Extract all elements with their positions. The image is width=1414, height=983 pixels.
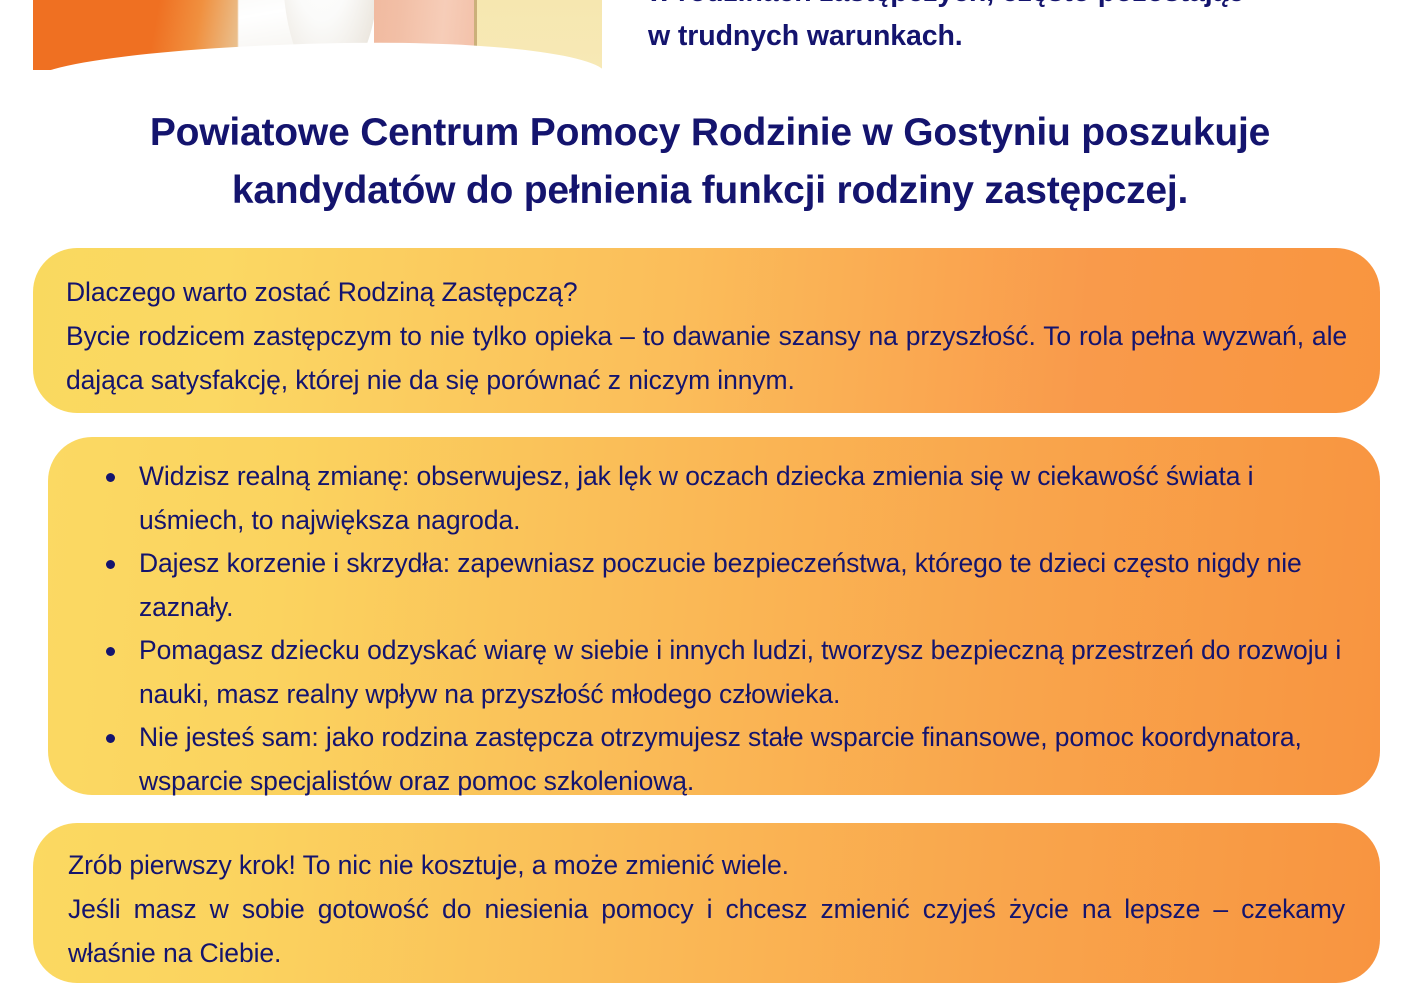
why-foster-paragraph: Bycie rodzicem zastępczym to nie tylko o… xyxy=(40,314,1373,402)
list-item-label: Pomagasz dziecku odzyskać wiarę w siebie… xyxy=(139,635,1341,709)
page-title-line-1: Powiatowe Centrum Pomocy Rodzinie w Gost… xyxy=(40,104,1380,162)
intro-text: w rodzinach zastępczych, często pozostaj… xyxy=(648,0,1348,58)
list-item-label: Widzisz realną zmianę: obserwujesz, jak … xyxy=(139,461,1253,535)
list-item-label: Nie jesteś sam: jako rodzina zastępcza o… xyxy=(139,722,1302,796)
list-item: Nie jesteś sam: jako rodzina zastępcza o… xyxy=(106,716,1356,803)
why-foster-card: Dlaczego warto zostać Rodziną Zastępczą?… xyxy=(33,248,1380,413)
cta-headline: Zrób pierwszy krok! To nic nie kosztuje,… xyxy=(40,843,1373,887)
page-title-line-2: kandydatów do pełnienia funkcji rodziny … xyxy=(40,162,1380,220)
bullet-dot-icon xyxy=(106,473,115,482)
list-item-label: Dajesz korzenie i skrzydła: zapewniasz p… xyxy=(139,548,1302,622)
intro-line-2: w trudnych warunkach. xyxy=(648,14,1348,58)
call-to-action-card: Zrób pierwszy krok! To nic nie kosztuje,… xyxy=(33,823,1380,983)
benefits-list: Widzisz realną zmianę: obserwujesz, jak … xyxy=(58,455,1370,803)
list-item: Dajesz korzenie i skrzydła: zapewniasz p… xyxy=(106,542,1356,629)
bullet-dot-icon xyxy=(106,734,115,743)
list-item: Widzisz realną zmianę: obserwujesz, jak … xyxy=(106,455,1356,542)
header-photo xyxy=(33,0,602,70)
bullet-dot-icon xyxy=(106,647,115,656)
intro-line-1: w rodzinach zastępczych, często pozostaj… xyxy=(648,0,1348,14)
benefits-card: Widzisz realną zmianę: obserwujesz, jak … xyxy=(48,437,1380,795)
page-title: Powiatowe Centrum Pomocy Rodzinie w Gost… xyxy=(40,104,1380,220)
why-foster-question: Dlaczego warto zostać Rodziną Zastępczą? xyxy=(40,270,1373,314)
list-item: Pomagasz dziecku odzyskać wiarę w siebie… xyxy=(106,629,1356,716)
bullet-dot-icon xyxy=(106,560,115,569)
cta-paragraph: Jeśli masz w sobie gotowość do niesienia… xyxy=(40,887,1373,975)
